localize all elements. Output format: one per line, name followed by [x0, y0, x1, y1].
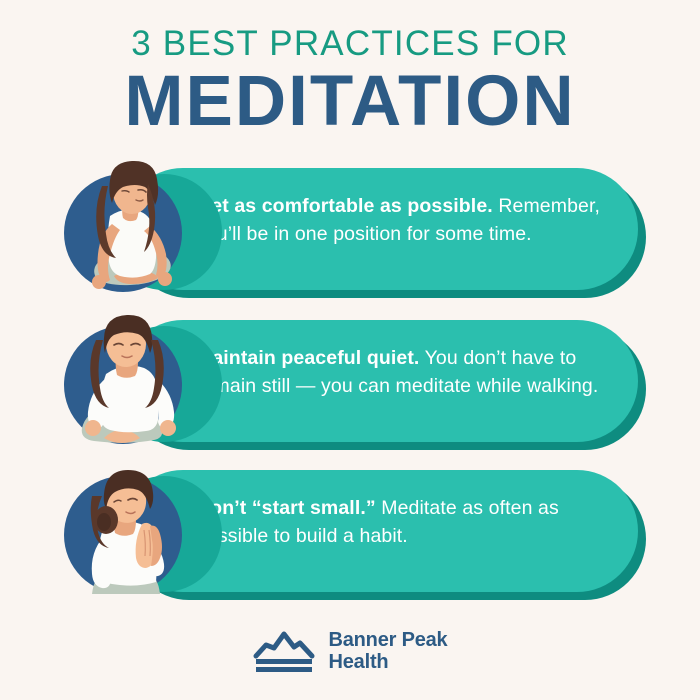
mountain-peak-icon	[253, 628, 315, 674]
brand-line-1: Banner Peak	[329, 629, 448, 651]
practice-card-2: Maintain peaceful quiet. You don’t have …	[0, 312, 700, 462]
brand-name: Banner Peak Health	[329, 629, 448, 674]
card-bold-text: Don’t “start small.”	[196, 497, 376, 519]
illustration-1	[52, 160, 192, 310]
practice-card-1: Get as comfortable as possible. Remember…	[0, 160, 700, 310]
woman-prayer-hands-icon	[52, 462, 192, 612]
infographic-poster: 3 BEST PRACTICES FOR MEDITATION Get as c…	[0, 0, 700, 700]
page-title: 3 BEST PRACTICES FOR MEDITATION	[0, 26, 700, 139]
card-bold-text: Maintain peaceful quiet.	[196, 347, 419, 369]
woman-lotus-side-icon	[52, 160, 192, 310]
title-main: MEDITATION	[0, 65, 700, 140]
title-kicker: 3 BEST PRACTICES FOR	[0, 26, 700, 63]
brand-logo: Banner Peak Health	[0, 628, 700, 674]
practice-card-3: Don’t “start small.” Meditate as often a…	[0, 462, 700, 612]
card-bold-text: Get as comfortable as possible.	[196, 195, 493, 217]
illustration-3	[52, 462, 192, 612]
card-text: Don’t “start small.” Meditate as often a…	[196, 462, 616, 584]
card-text: Maintain peaceful quiet. You don’t have …	[196, 312, 616, 434]
brand-line-2: Health	[329, 651, 448, 673]
woman-lotus-front-icon	[52, 312, 192, 462]
illustration-2	[52, 312, 192, 462]
card-text: Get as comfortable as possible. Remember…	[196, 160, 616, 282]
